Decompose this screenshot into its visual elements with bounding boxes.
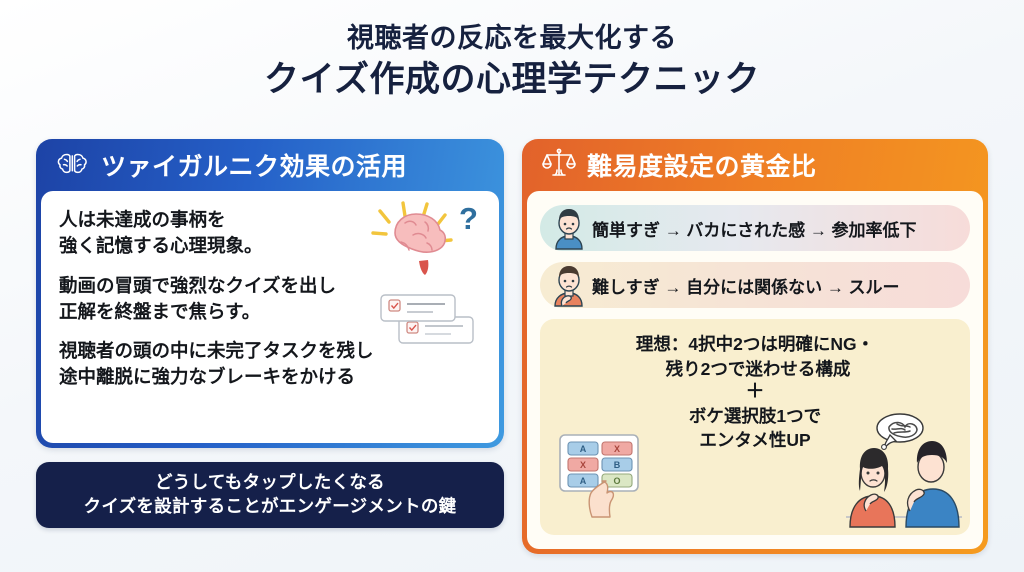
paragraph-3-line-2: 途中離脱に強力なブレーキをかける [59,364,481,390]
svg-text:O: O [613,476,620,486]
difficulty-card-header: 難易度設定の黄金比 [522,139,988,191]
svg-text:A: A [580,476,587,486]
left-column: ツァイガルニク効果の活用 [36,139,504,559]
svg-text:B: B [614,460,621,470]
key-takeaway-banner: どうしてもタップしたくなる クイズを設計することがエンゲージメントの鍵 [36,462,504,528]
paragraph-1: 人は未達成の事柄を 強く記憶する心理現象。 [59,207,481,260]
content-columns: ツァイガルニク効果の活用 [0,139,1024,559]
zeigarnik-card-title: ツァイガルニク効果の活用 [101,147,407,183]
zeigarnik-card: ツァイガルニク効果の活用 [36,139,504,448]
title-line-1: 視聴者の反応を最大化する [0,22,1024,56]
right-column: 難易度設定の黄金比 [522,139,988,559]
paragraph-3-line-1: 視聴者の頭の中に未完了タスクを残し [59,338,481,364]
zeigarnik-card-body: ? [41,191,499,443]
ideal-plus-symbol: ＋ [550,381,960,403]
paragraph-1-line-2: 強く記憶する心理現象。 [59,233,481,259]
ideal-line-4: エンタメ性UP [550,428,960,453]
difficulty-pill-too-hard: 難しすぎ → 自分には関係ない → スルー [540,262,970,308]
person-orange-shirt-icon [548,262,590,308]
difficulty-card-body: 簡単すぎ → バカにされた感 → 参加率低下 [527,191,983,549]
ideal-line-1: 理想：4択中2つは明確にNG・ [550,332,960,357]
page-title: 視聴者の反応を最大化する クイズ作成の心理学テクニック [0,0,1024,102]
paragraph-3: 視聴者の頭の中に未完了タスクを残し 途中離脱に強力なブレーキをかける [59,338,481,391]
difficulty-pill-too-easy-text: 簡単すぎ → バカにされた感 → 参加率低下 [592,216,917,241]
brain-icon [56,148,90,183]
paragraph-1-line-1: 人は未達成の事柄を [59,207,481,233]
difficulty-pill-too-hard-text: 難しすぎ → 自分には関係ない → スルー [592,273,900,298]
ideal-line-2: 残り2つで迷わせる構成 [550,357,960,382]
paragraph-2-line-2: 正解を終盤まで焦らす。 [59,299,481,325]
person-blue-shirt-icon [548,205,590,251]
svg-text:X: X [580,460,586,470]
paragraph-2: 動画の冒頭で強烈なクイズを出し 正解を終盤まで焦らす。 [59,273,481,326]
paragraph-2-line-1: 動画の冒頭で強烈なクイズを出し [59,273,481,299]
scales-icon [542,147,576,184]
title-line-2: クイズ作成の心理学テクニック [0,58,1024,102]
banner-line-2: クイズを設計することがエンゲージメントの鍵 [84,495,457,519]
difficulty-card-title: 難易度設定の黄金比 [587,147,817,183]
ideal-structure-box: A X X B A O [540,319,970,535]
banner-line-1: どうしてもタップしたくなる [155,471,385,495]
ideal-line-3: ボケ選択肢1つで [550,404,960,429]
zeigarnik-card-header: ツァイガルニク効果の活用 [36,139,504,191]
difficulty-pill-too-easy: 簡単すぎ → バカにされた感 → 参加率低下 [540,205,970,251]
difficulty-card: 難易度設定の黄金比 [522,139,988,554]
